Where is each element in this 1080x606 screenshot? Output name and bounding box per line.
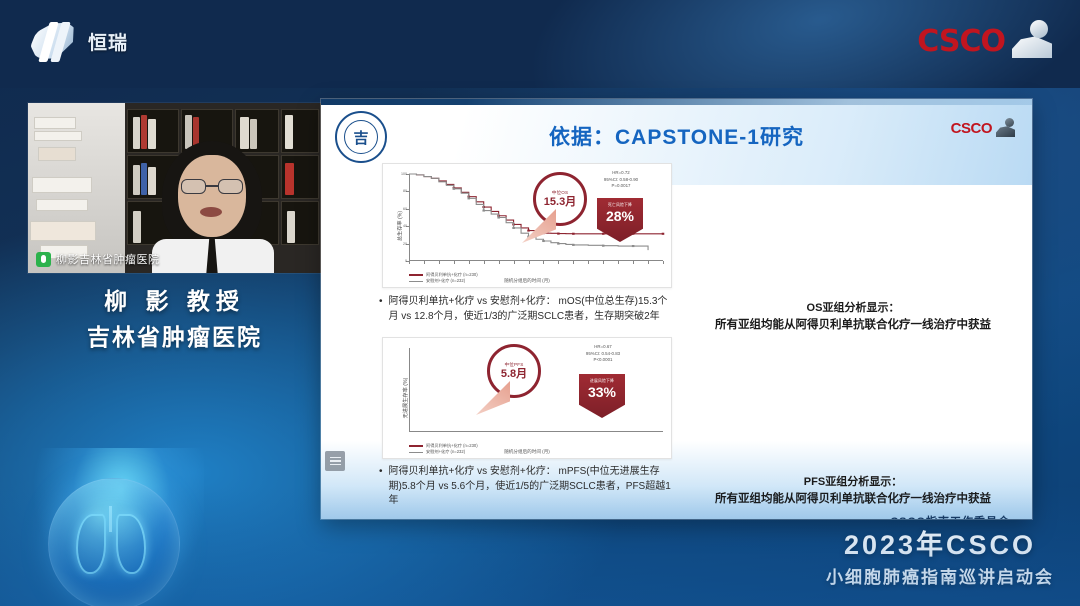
y-tick-label: 20 — [397, 242, 407, 246]
slide-csco-text: CSCO — [951, 120, 992, 137]
speaker-name: 柳 影 教授 — [28, 282, 321, 316]
x-tick — [633, 261, 634, 264]
x-tick — [588, 261, 589, 264]
pfs-hr: HR=0.67 — [561, 344, 645, 351]
slide-footer-text: CSCO指南工作委员会 — [890, 513, 1010, 519]
x-tick — [469, 261, 470, 264]
os-forest-body — [693, 161, 1013, 303]
x-tick — [618, 261, 619, 264]
x-tick — [543, 261, 544, 264]
pfs-km-legend: 阿得贝利单抗+化疗 (n=230) 安慰剂+化疗 (n=232) — [409, 443, 478, 456]
x-tick — [484, 261, 485, 264]
y-tick-label: 40 — [397, 224, 407, 228]
x-tick — [529, 261, 530, 264]
x-tick — [558, 261, 559, 264]
hengrui-logo-icon — [30, 18, 82, 64]
x-tick — [648, 261, 649, 264]
pfs-caption-line2: 所有亚组均能从阿得贝利单抗联合化疗一线治疗中获益 — [693, 490, 1013, 506]
video-background — [28, 103, 321, 273]
x-tick — [454, 261, 455, 264]
os-km-legend: 阿得贝利单抗+化疗 (n=230) 安慰剂+化疗 (n=232) — [409, 272, 478, 285]
event-year-title: 2023年CSCO — [826, 531, 1054, 561]
pfs-risk-value: 33% — [588, 385, 616, 400]
participant-name-text: 柳影吉林省肿瘤医院 — [56, 251, 160, 267]
presentation-slide[interactable]: 吉 依据：CAPSTONE-1研究 CSCO 总生存率 (%) 随机分组后的时间… — [321, 99, 1032, 519]
x-tick — [514, 261, 515, 264]
speaker-video-person — [156, 141, 268, 273]
pfs-caption-line1: PFS亚组分析显示： — [693, 473, 1013, 489]
event-subtitle: 小细胞肺癌指南巡讲启动会 — [826, 563, 1054, 588]
os-km-chart: 总生存率 (%) 随机分组后的时间 (月) 020406080100 中位OS … — [382, 163, 672, 288]
participant-name-label: 柳影吉林省肿瘤医院 — [36, 251, 160, 267]
pfs-median-callout: 中位PFS 5.8月 — [487, 344, 541, 398]
os-stats-block: HR=0.72 95%CI: 0.58-0.90 P=0.0017 — [579, 170, 663, 190]
sponsor-logo-text: 恒瑞 — [88, 28, 128, 55]
microphone-icon[interactable] — [36, 252, 51, 267]
bullet-marker: • — [379, 295, 383, 324]
os-caption-line1: OS亚组分析显示： — [693, 299, 1013, 315]
room-left-wall — [28, 103, 128, 273]
pfs-km-chart: 无进展生存率 (%) 随机分组后的时间 (月) 中位PFS 5.8月 进展风险下… — [382, 337, 672, 459]
csco-logo: CSCO — [917, 18, 1054, 64]
slide-csco-logo: CSCO — [951, 117, 1016, 139]
pfs-stats-block: HR=0.67 95%CI: 0.54-0.83 P<0.0001 — [561, 344, 645, 364]
pfs-legend-control: 安慰剂+化疗 (n=232) — [426, 449, 465, 456]
os-p: P=0.0017 — [579, 183, 663, 190]
pfs-p: P<0.0001 — [561, 357, 645, 364]
os-ci: 95%CI: 0.58-0.90 — [579, 177, 663, 184]
csco-logo-text: CSCO — [917, 24, 1005, 59]
pfs-bullet-text: 阿得贝利单抗+化疗 vs 安慰剂+化疗： mPFS(中位无进展生存期)5.8个月… — [389, 465, 679, 509]
top-header-bar: 恒瑞 CSCO — [0, 0, 1080, 88]
os-risk-value: 28% — [606, 209, 634, 224]
pfs-median-value: 5.8月 — [501, 368, 527, 380]
speaker-affiliation: 吉林省肿瘤医院 — [28, 318, 321, 352]
y-tick-label: 0 — [397, 259, 407, 263]
x-tick — [663, 261, 664, 264]
x-tick — [409, 261, 410, 264]
eyeglasses — [181, 179, 243, 195]
os-bullet-text: 阿得贝利单抗+化疗 vs 安慰剂+化疗： mOS(中位总生存)15.3个月 vs… — [389, 295, 675, 324]
webinar-stage: 恒瑞 CSCO — [0, 0, 1080, 606]
os-hr: HR=0.72 — [579, 170, 663, 177]
os-forest-caption: OS亚组分析显示： 所有亚组均能从阿得贝利单抗联合化疗一线治疗中获益 — [693, 299, 1013, 332]
y-tick-label: 60 — [397, 207, 407, 211]
os-legend-control: 安慰剂+化疗 (n=232) — [426, 278, 465, 285]
pfs-bullet: • 阿得贝利单抗+化疗 vs 安慰剂+化疗： mPFS(中位无进展生存期)5.8… — [379, 465, 679, 509]
lungs-icon — [76, 514, 146, 576]
csco-emblem-icon — [1008, 18, 1054, 64]
pfs-forest-body — [693, 335, 1013, 477]
y-tick-label: 80 — [397, 189, 407, 193]
os-bullet: • 阿得贝利单抗+化疗 vs 安慰剂+化疗： mOS(中位总生存)15.3个月 … — [379, 295, 675, 324]
os-forest-plot — [693, 161, 1013, 303]
speaker-caption: 柳 影 教授 吉林省肿瘤医院 — [28, 282, 321, 352]
x-tick — [603, 261, 604, 264]
pfs-forest-caption: PFS亚组分析显示： 所有亚组均能从阿得贝利单抗联合化疗一线治疗中获益 — [693, 473, 1013, 506]
event-lockup: 2023年CSCO 小细胞肺癌指南巡讲启动会 — [826, 531, 1054, 588]
x-tick — [573, 261, 574, 264]
pfs-forest-plot — [693, 335, 1013, 477]
sponsor-logo: 恒瑞 — [30, 18, 128, 64]
y-tick-label: 100 — [397, 172, 407, 176]
bullet-marker: • — [379, 465, 383, 509]
slide-title: 依据：CAPSTONE-1研究 — [321, 121, 1032, 151]
header-light-sheen — [476, 0, 1080, 88]
pfs-km-xlabel: 随机分组后的时间 (月) — [504, 449, 550, 455]
x-tick — [439, 261, 440, 264]
lung-globe-graphic — [42, 470, 194, 606]
x-tick — [424, 261, 425, 264]
slide-csco-emblem-icon — [994, 117, 1016, 139]
os-caption-line2: 所有亚组均能从阿得贝利单抗联合化疗一线治疗中获益 — [693, 316, 1013, 332]
pfs-ci: 95%CI: 0.54-0.83 — [561, 351, 645, 358]
participant-video-tile[interactable]: 柳影吉林省肿瘤医院 — [28, 103, 321, 273]
pfs-km-ylabel: 无进展生存率 (%) — [402, 378, 409, 419]
x-tick — [499, 261, 500, 264]
os-median-value: 15.3月 — [544, 196, 576, 208]
slide-menu-icon[interactable] — [325, 451, 345, 471]
os-km-xlabel: 随机分组后的时间 (月) — [504, 278, 550, 284]
